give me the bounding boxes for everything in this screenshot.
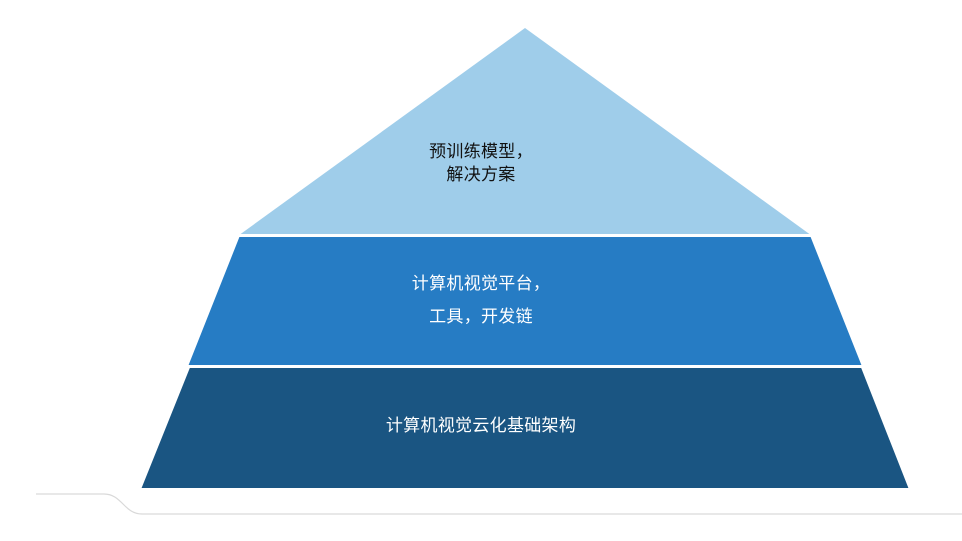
footer-decorative-rule xyxy=(0,486,962,541)
slide-footer: IDC © IDC | xyxy=(0,486,962,541)
pyramid-tier-bottom[interactable] xyxy=(142,368,909,488)
pyramid-tier-top[interactable] xyxy=(241,28,810,234)
slide-canvas: 预训练模型， 解决方案 计算机视觉平台， 工具，开发链 计算机视觉云化基础架构 xyxy=(0,0,962,541)
pyramid-svg xyxy=(0,0,962,541)
pyramid-tier-middle[interactable] xyxy=(189,237,862,365)
footer-rule-path xyxy=(36,494,962,514)
pyramid-diagram xyxy=(0,0,962,541)
